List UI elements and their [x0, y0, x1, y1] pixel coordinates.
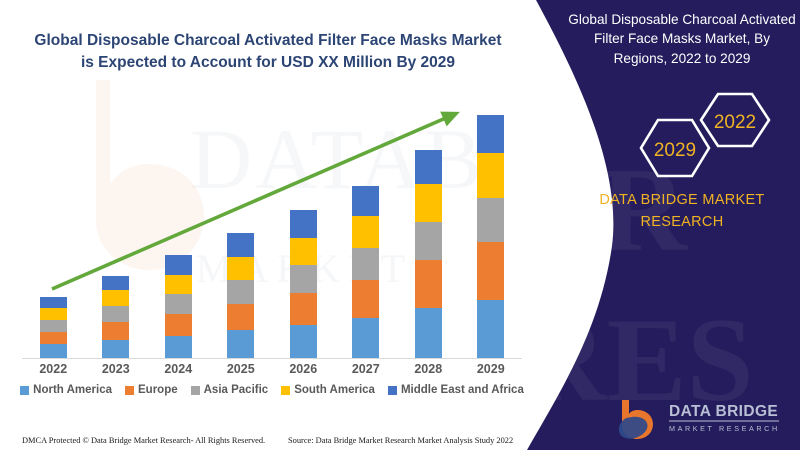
infographic-page: BR RES DATAB MARKET Global Disposable	[0, 0, 800, 450]
chart-legend: North AmericaEuropeAsia PacificSouth Ame…	[22, 384, 522, 396]
right-panel-title: Global Disposable Charcoal Activated Fil…	[568, 10, 796, 68]
bar-segment	[165, 275, 192, 294]
legend-item[interactable]: Middle East and Africa	[388, 384, 524, 396]
bar-stack	[227, 233, 254, 358]
x-axis-label: 2025	[214, 362, 268, 376]
bar-segment	[352, 186, 379, 216]
x-axis-label: 2027	[339, 362, 393, 376]
legend-item[interactable]: Asia Pacific	[191, 384, 269, 396]
bar-segment	[415, 222, 442, 260]
bar-stack	[40, 297, 67, 358]
bar-segment	[352, 280, 379, 318]
bar-segment	[290, 293, 317, 325]
x-axis-labels: 20222023202420252026202720282029	[22, 362, 522, 376]
bar-segment	[40, 344, 67, 358]
bar-segment	[415, 184, 442, 222]
hexagon-2029-label: 2029	[654, 140, 696, 161]
bar-stack	[352, 186, 379, 358]
bar-segment	[165, 336, 192, 358]
bar-column	[26, 108, 80, 358]
bar-stack	[477, 115, 504, 358]
right-panel-content: Global Disposable Charcoal Activated Fil…	[560, 0, 800, 450]
legend-item[interactable]: South America	[281, 384, 375, 396]
bar-column	[464, 108, 518, 358]
bar-column	[151, 108, 205, 358]
bar-segment	[477, 242, 504, 300]
x-axis-label: 2023	[89, 362, 143, 376]
bar-stack	[102, 276, 129, 358]
chart-title: Global Disposable Charcoal Activated Fil…	[18, 30, 518, 75]
hexagon-2022-label: 2022	[714, 112, 756, 133]
bar-segment	[102, 306, 129, 322]
bar-column	[401, 108, 455, 358]
logo-name-line-1: DATA BRIDGE	[669, 403, 778, 420]
legend-swatch	[191, 386, 200, 395]
bar-segment	[165, 314, 192, 336]
bar-segment	[40, 332, 67, 344]
bar-segment	[227, 280, 254, 304]
bar-segment	[352, 216, 379, 248]
hexagon-pair: 2022 2029	[570, 88, 795, 188]
bar-segment	[290, 265, 317, 293]
bar-segment	[227, 257, 254, 280]
x-axis-line	[22, 358, 522, 359]
bar-segment	[290, 238, 317, 265]
bar-segment	[102, 290, 129, 306]
footer-dmca-text: DMCA Protected © Data Bridge Market Rese…	[22, 436, 265, 445]
legend-item[interactable]: Europe	[125, 384, 178, 396]
x-axis-label: 2029	[464, 362, 518, 376]
bar-segment	[477, 115, 504, 153]
legend-item[interactable]: North America	[20, 384, 112, 396]
legend-label: Asia Pacific	[204, 384, 269, 396]
bar-segment	[352, 318, 379, 358]
legend-label: Europe	[138, 384, 178, 396]
x-axis-label: 2028	[401, 362, 455, 376]
legend-label: North America	[33, 384, 112, 396]
bar-segment	[102, 340, 129, 358]
bar-segment	[165, 255, 192, 275]
brand-line-1: DATA BRIDGE MARKET	[568, 190, 796, 212]
bar-segment	[352, 248, 379, 280]
bar-segment	[165, 294, 192, 314]
legend-swatch	[388, 386, 397, 395]
chart-title-line-2: is Expected to Account for USD XX Millio…	[18, 52, 518, 74]
bar-column	[89, 108, 143, 358]
bar-segment	[415, 308, 442, 358]
chart-title-line-1: Global Disposable Charcoal Activated Fil…	[18, 30, 518, 52]
bar-segment	[40, 320, 67, 332]
legend-swatch	[20, 386, 29, 395]
brand-line-2: RESEARCH	[568, 212, 796, 234]
x-axis-label: 2024	[151, 362, 205, 376]
bar-segment	[40, 308, 67, 320]
bar-segment	[290, 210, 317, 238]
bar-column	[339, 108, 393, 358]
bar-segment	[477, 198, 504, 242]
bar-segment	[477, 300, 504, 358]
bar-segment	[102, 276, 129, 290]
x-axis-label: 2026	[276, 362, 330, 376]
legend-swatch	[281, 386, 290, 395]
logo-name-line-2: MARKET RESEARCH	[669, 424, 780, 433]
bar-segment	[477, 153, 504, 198]
bar-segment	[415, 260, 442, 308]
bar-stack	[415, 150, 442, 358]
logo-mark	[619, 400, 653, 439]
bar-segment	[102, 322, 129, 340]
bar-stack	[165, 255, 192, 358]
x-axis-label: 2022	[26, 362, 80, 376]
bar-segment	[290, 325, 317, 358]
legend-label: South America	[294, 384, 375, 396]
footer-source-text: Source: Data Bridge Market Research Mark…	[288, 436, 513, 445]
bar-segment	[227, 304, 254, 330]
bar-column	[276, 108, 330, 358]
bar-stack	[290, 210, 317, 358]
bar-segment	[227, 233, 254, 257]
bar-segment	[227, 330, 254, 358]
bar-group	[22, 108, 522, 358]
legend-label: Middle East and Africa	[401, 384, 524, 396]
legend-swatch	[125, 386, 134, 395]
right-panel-brand: DATA BRIDGE MARKET RESEARCH	[568, 190, 796, 234]
data-bridge-logo: DATA BRIDGE MARKET RESEARCH	[612, 396, 787, 440]
bar-segment	[40, 297, 67, 308]
left-chart-panel: DATAB MARKET Global Disposable Charcoal …	[0, 0, 545, 450]
bar-column	[214, 108, 268, 358]
bar-segment	[415, 150, 442, 184]
